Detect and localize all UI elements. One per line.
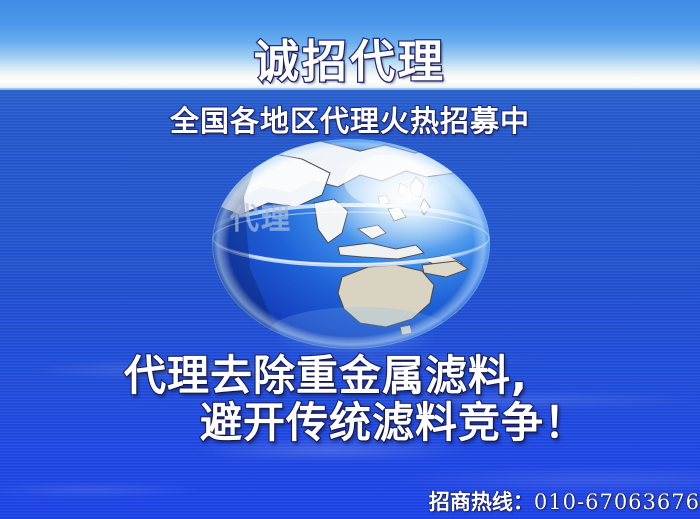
slogan-line-2: 避开传统滤料竞争！ (0, 399, 700, 446)
advertisement-banner: 代理 诚招代理 全国各地区代理火热招募中 代理去除重金属滤料, 避开传统滤料竞争… (0, 0, 700, 519)
hotline-block: 招商热线：010-67063676 (0, 486, 700, 516)
globe-icon (210, 137, 492, 351)
page-subtitle: 全国各地区代理火热招募中 (0, 104, 700, 138)
hotline-number[interactable]: 010-67063676 (534, 490, 700, 514)
hotline-label: 招商热线： (429, 490, 534, 514)
slogan-line-1: 代理去除重金属滤料, (0, 352, 700, 399)
page-title: 诚招代理 (0, 36, 700, 88)
globe-graphic: 代理 (210, 137, 492, 351)
slogan-block: 代理去除重金属滤料, 避开传统滤料竞争！ (0, 352, 700, 446)
